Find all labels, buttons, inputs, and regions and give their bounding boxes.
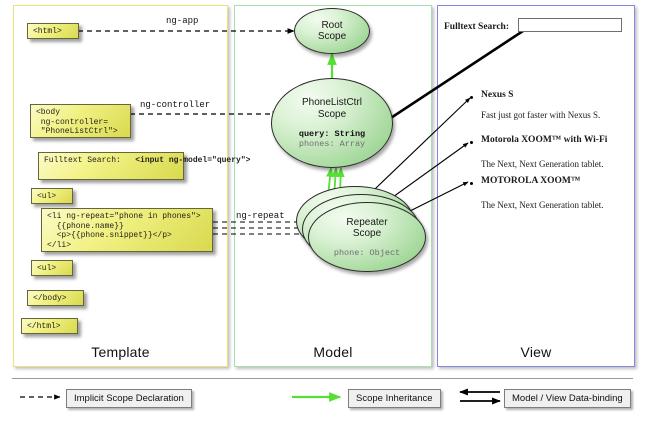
panel-model: Model: [234, 5, 432, 367]
scope-root[interactable]: Root Scope: [294, 8, 370, 54]
code-block-html-close[interactable]: </html>: [21, 318, 78, 334]
scope-ctrl-title-1: PhoneListCtrl: [302, 97, 362, 109]
scope-root-title-1: Root: [321, 20, 342, 32]
edge-label-ng-repeat: ng-repeat: [236, 211, 285, 221]
scope-ctrl-prop-phones: phones: Array: [299, 139, 365, 149]
scope-ctrl-title-2: Scope: [318, 109, 346, 121]
view-phone-name-1: Nexus S: [481, 90, 513, 100]
view-phone-snippet-2: The Next, Next Generation tablet.: [481, 159, 603, 169]
list-bullet-3: [470, 182, 473, 185]
scope-ctrl-prop-query: query: String: [299, 129, 365, 139]
list-bullet-1: [470, 96, 473, 99]
code-fulltext-label: Fulltext Search:: [44, 156, 121, 165]
scope-repeater[interactable]: Repeater Scope phone: Object: [308, 202, 426, 272]
scope-root-title-2: Scope: [318, 31, 346, 43]
edge-label-ng-app: ng-app: [166, 16, 198, 26]
legend-scope-inheritance: Scope Inheritance: [348, 389, 441, 408]
view-phone-name-2: Motorola XOOM™ with Wi-Fi: [481, 135, 607, 145]
code-block-ul-close[interactable]: <ul>: [31, 260, 73, 276]
legend-divider: [12, 378, 633, 379]
legend-glyph-databinding: [460, 392, 500, 401]
panel-title-template: Template: [14, 344, 227, 360]
scope-repeater-title-1: Repeater: [346, 217, 387, 229]
panel-title-model: Model: [235, 344, 431, 360]
code-block-ul-open[interactable]: <ul>: [31, 188, 73, 204]
view-phone-snippet-1: Fast just got faster with Nexus S.: [481, 110, 600, 120]
panel-view: View: [437, 5, 635, 367]
scope-phone-list-ctrl[interactable]: PhoneListCtrl Scope query: String phones…: [271, 78, 393, 168]
panel-title-view: View: [438, 344, 634, 360]
code-block-body-tag[interactable]: <body ng-controller= "PhoneListCtrl">: [30, 104, 131, 138]
code-block-fulltext-search[interactable]: Fulltext Search: <input ng-model="query"…: [38, 152, 184, 180]
view-search-input[interactable]: [518, 18, 622, 32]
scope-repeater-prop-phone: phone: Object: [334, 248, 400, 258]
code-fulltext-input: <input ng-model="query">: [121, 156, 251, 165]
edge-label-ng-controller: ng-controller: [140, 100, 210, 110]
view-search-label: Fulltext Search:: [444, 22, 509, 32]
diagram-canvas: Template Model View: [0, 0, 645, 425]
scope-repeater-title-2: Scope: [353, 228, 381, 240]
code-block-body-close[interactable]: </body>: [27, 290, 84, 306]
panel-template: Template: [13, 5, 228, 367]
code-block-html-open[interactable]: <html>: [27, 23, 79, 39]
legend-model-view-data-binding: Model / View Data-binding: [504, 389, 631, 408]
code-block-li-ng-repeat[interactable]: <li ng-repeat="phone in phones"> {{phone…: [41, 208, 213, 252]
view-phone-snippet-3: The Next, Next Generation tablet.: [481, 200, 603, 210]
view-phone-name-3: MOTOROLA XOOM™: [481, 176, 580, 186]
list-bullet-2: [470, 141, 473, 144]
legend-implicit-scope-declaration: Implicit Scope Declaration: [66, 389, 192, 408]
